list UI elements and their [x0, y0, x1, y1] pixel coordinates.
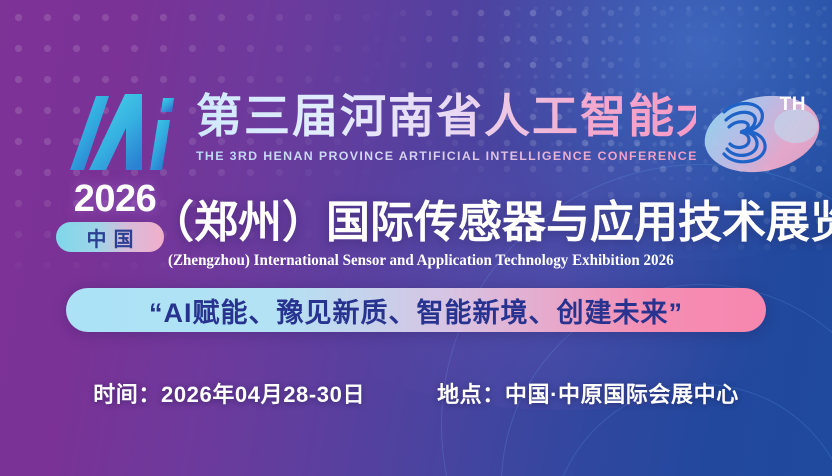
event-date: 时间：2026年04月28-30日: [93, 377, 365, 409]
headline-block: 第三届河南省人工智能大会 THE 3RD HENAN PROVINCE ARTI…: [196, 92, 696, 163]
event-venue: 地点：中国·中原国际会展中心: [437, 377, 739, 409]
country-badge: 中国: [56, 222, 164, 252]
edition-badge-suffix: TH: [780, 94, 806, 116]
headline-chinese: 第三届河南省人工智能大会: [196, 92, 696, 142]
exhibition-title-chinese: （郑州）国际传感器与应用技术展览会: [150, 186, 832, 250]
conference-banner: 第三届河南省人工智能大会 THE 3RD HENAN PROVINCE ARTI…: [0, 0, 832, 476]
exhibition-title-english: (Zhengzhou) International Sensor and App…: [168, 252, 674, 270]
slogan-text: “AI赋能、豫见新质、智能新境、创建未来”: [149, 291, 683, 330]
ai-logo-icon: [62, 84, 180, 176]
event-info: 时间：2026年04月28-30日 地点：中国·中原国际会展中心: [0, 377, 832, 409]
edition-badge: TH: [700, 86, 824, 182]
slogan-pill: “AI赋能、豫见新质、智能新境、创建未来”: [66, 288, 766, 332]
headline-english: THE 3RD HENAN PROVINCE ARTIFICIAL INTELL…: [196, 149, 696, 163]
